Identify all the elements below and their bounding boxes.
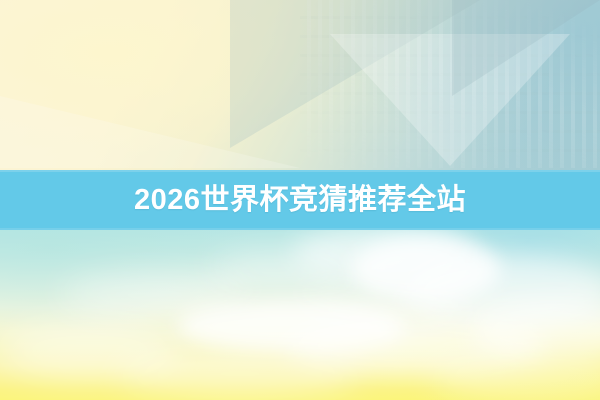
- promo-banner: 2026世界杯竞猜推荐全站: [0, 0, 600, 400]
- title-band-bottom-edge: [0, 228, 600, 230]
- cloud-shape: [120, 350, 360, 398]
- cloud-shape: [60, 274, 250, 316]
- title-band: 2026世界杯竞猜推荐全站: [0, 170, 600, 230]
- cloud-shape: [300, 286, 470, 326]
- title-band-top-edge: [0, 170, 600, 172]
- banner-title: 2026世界杯竞猜推荐全站: [134, 186, 466, 215]
- geometric-triangle-overlay-d: [0, 96, 300, 168]
- cloud-shape: [210, 252, 360, 288]
- geometric-triangle-overlay-c: [452, 0, 600, 96]
